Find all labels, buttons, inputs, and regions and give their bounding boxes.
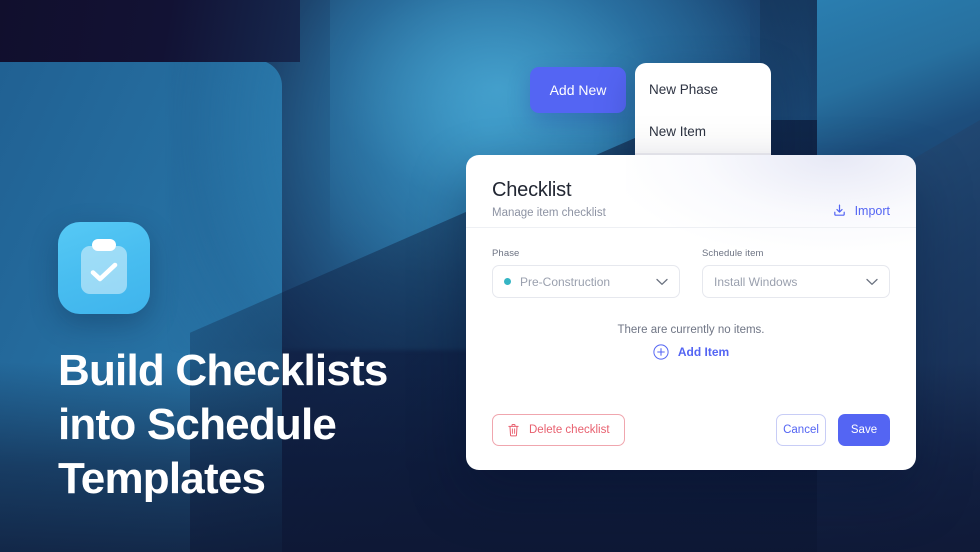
empty-state: There are currently no items. Add Item <box>466 324 916 365</box>
chevron-down-icon <box>866 278 878 286</box>
delete-checklist-button[interactable]: Delete checklist <box>492 414 625 446</box>
checklist-card: Checklist Manage item checklist Import P… <box>466 155 916 470</box>
field-schedule-item: Schedule item Install Windows <box>702 248 890 298</box>
clipboard-check-icon <box>58 222 150 314</box>
clipboard-clip-shape <box>92 239 116 251</box>
empty-state-message: There are currently no items. <box>466 324 916 336</box>
menu-item-new-phase[interactable]: New Phase <box>635 69 771 111</box>
promo-banner: Build Checklists into Schedule Templates… <box>0 0 980 552</box>
menu-item-new-item[interactable]: New Item <box>635 111 771 153</box>
phase-status-dot <box>504 278 511 285</box>
download-tray-icon <box>832 203 847 218</box>
field-label-phase: Phase <box>492 248 680 259</box>
checkmark-icon <box>90 262 118 284</box>
import-label: Import <box>855 204 890 218</box>
footer-actions: Cancel Save <box>776 414 890 446</box>
import-button[interactable]: Import <box>832 203 890 218</box>
card-header: Checklist Manage item checklist Import <box>466 155 916 228</box>
card-footer: Delete checklist Cancel Save <box>466 390 916 470</box>
schedule-item-select-value: Install Windows <box>714 275 797 289</box>
page-title: Build Checklists into Schedule Templates <box>58 344 458 506</box>
phase-select[interactable]: Pre-Construction <box>492 265 680 298</box>
card-subtitle: Manage item checklist <box>492 207 890 219</box>
trash-icon <box>507 423 520 437</box>
field-label-schedule-item: Schedule item <box>702 248 890 259</box>
save-button[interactable]: Save <box>838 414 890 446</box>
add-new-button[interactable]: Add New <box>530 67 626 113</box>
card-title: Checklist <box>492 179 890 202</box>
phase-select-value: Pre-Construction <box>520 275 610 289</box>
background-corner-block <box>0 0 300 62</box>
delete-checklist-label: Delete checklist <box>529 424 610 436</box>
card-form-row: Phase Pre-Construction Schedule item Ins… <box>466 228 916 298</box>
add-item-label: Add Item <box>678 345 729 359</box>
schedule-item-select[interactable]: Install Windows <box>702 265 890 298</box>
hero-block: Build Checklists into Schedule Templates <box>58 222 458 506</box>
field-phase: Phase Pre-Construction <box>492 248 680 298</box>
add-item-button[interactable]: Add Item <box>653 344 729 360</box>
cancel-button[interactable]: Cancel <box>776 414 826 446</box>
plus-circle-icon <box>653 344 669 360</box>
chevron-down-icon <box>656 278 668 286</box>
